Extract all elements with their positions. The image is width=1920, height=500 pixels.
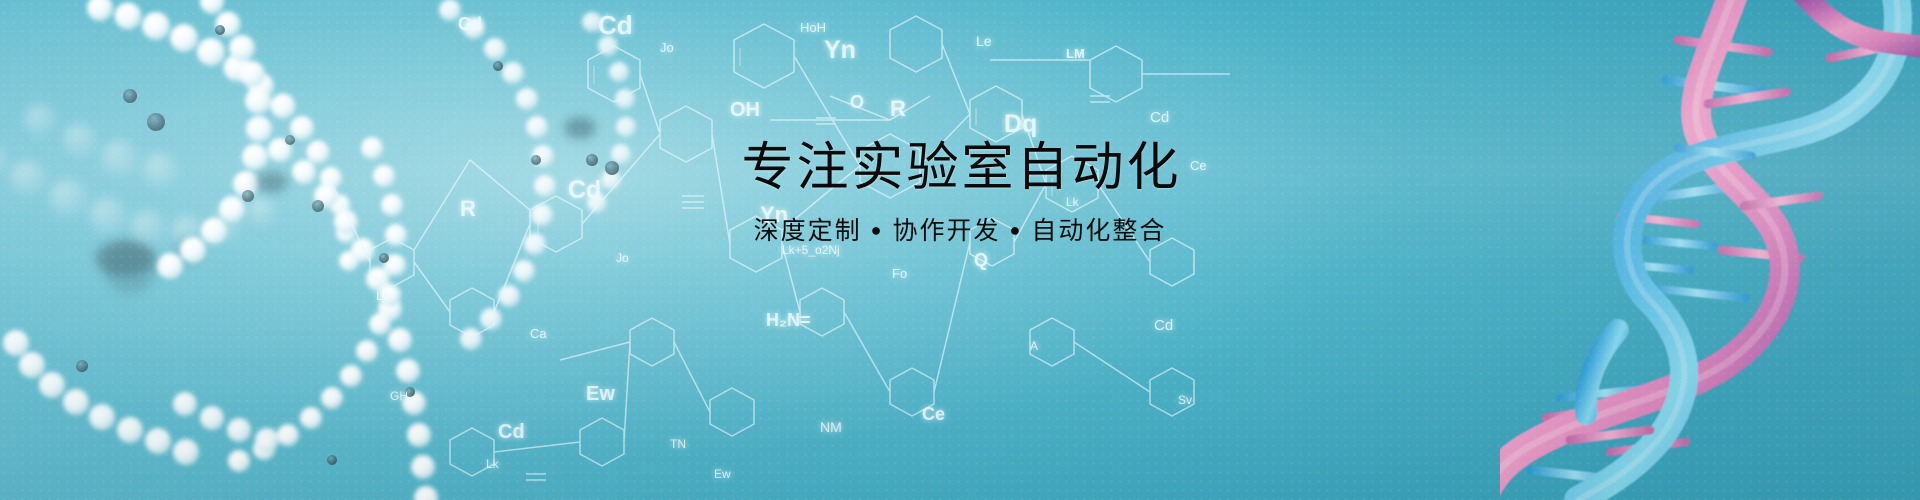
subtitle-part-1: 深度定制 — [754, 217, 862, 245]
svg-text:GH: GH — [390, 389, 408, 403]
svg-text:Cd: Cd — [498, 421, 525, 443]
svg-text:R: R — [890, 96, 906, 121]
hero-banner: Cd Jo Yn HoH Yn Lk+5_o2Nj H₂N= Cd Cd Ca … — [0, 0, 1920, 500]
svg-text:Cd: Cd — [458, 14, 482, 34]
svg-text:Ce: Ce — [922, 404, 945, 424]
svg-text:O: O — [850, 92, 864, 112]
svg-text:Ew: Ew — [714, 467, 731, 481]
svg-text:Ew: Ew — [586, 383, 615, 405]
subtitle-part-3: 自动化整合 — [1031, 217, 1166, 245]
svg-text:Jo: Jo — [660, 40, 674, 55]
svg-text:Sv: Sv — [1178, 393, 1192, 407]
svg-text:TN: TN — [670, 437, 686, 451]
svg-text:H₂N=: H₂N= — [766, 310, 811, 330]
svg-text:HoH: HoH — [800, 20, 826, 35]
banner-text-block: 专注实验室自动化 深度定制●协作开发●自动化整合 — [0, 140, 1920, 246]
dna-double-helix-artwork — [1500, 0, 1920, 500]
svg-text:Cd: Cd — [1150, 109, 1169, 126]
subtitle-part-2: 协作开发 — [892, 217, 1000, 245]
svg-text:LM: LM — [1066, 46, 1085, 61]
svg-text:Yn: Yn — [824, 36, 856, 64]
svg-text:A: A — [1030, 339, 1038, 353]
svg-text:Dq: Dq — [1004, 110, 1037, 138]
subtitle-separator-1: ● — [862, 220, 893, 240]
svg-text:Cd: Cd — [598, 10, 633, 40]
subtitle-separator-2: ● — [1001, 220, 1032, 240]
svg-text:Fo: Fo — [892, 266, 907, 281]
svg-text:Lk: Lk — [376, 288, 390, 303]
chemical-structure-overlay: Cd Jo Yn HoH Yn Lk+5_o2Nj H₂N= Cd Cd Ca … — [330, 0, 1230, 500]
page-title: 专注实验室自动化 — [0, 140, 1920, 196]
svg-text:Le: Le — [976, 33, 992, 49]
banner-subtitle: 深度定制●协作开发●自动化整合 — [0, 218, 1920, 246]
svg-text:Lk: Lk — [486, 457, 500, 471]
svg-text:Ca: Ca — [530, 326, 547, 341]
svg-text:OH: OH — [730, 99, 760, 121]
svg-text:NM: NM — [820, 419, 842, 435]
svg-text:Jo: Jo — [616, 251, 629, 265]
svg-text:Cd: Cd — [1154, 317, 1173, 334]
svg-text:Q: Q — [974, 250, 988, 270]
